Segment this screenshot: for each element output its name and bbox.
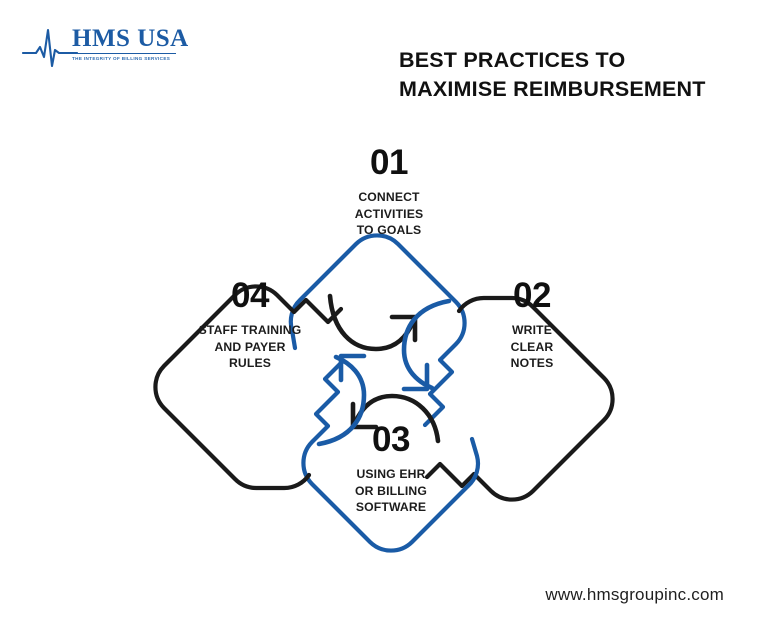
page-title-line-1: BEST PRACTICES TO [399, 46, 706, 74]
arrow-top-left-to-top [330, 296, 415, 349]
cycle-diagram-graphic [0, 96, 768, 596]
website-url[interactable]: www.hmsgroupinc.com [545, 585, 724, 605]
arrow-top-right-to-right [404, 301, 449, 389]
brand-tagline: THE INTEGRITY OF BILLING SERVICES [72, 56, 184, 61]
brand-logo-text: HMS USA THE INTEGRITY OF BILLING SERVICE… [72, 26, 184, 61]
brand-logo: HMS USA THE INTEGRITY OF BILLING SERVICE… [22, 22, 182, 78]
page-title: BEST PRACTICES TO MAXIMISE REIMBURSEMENT [399, 46, 706, 103]
node-03-shape[interactable] [303, 361, 478, 551]
page-header: HMS USA THE INTEGRITY OF BILLING SERVICE… [0, 0, 768, 110]
heartbeat-wave-icon [22, 26, 78, 70]
brand-divider [72, 53, 176, 54]
brand-name: HMS USA [72, 26, 184, 52]
node-04-shape[interactable] [155, 286, 341, 488]
node-02-shape[interactable] [427, 298, 613, 500]
cycle-diagram: 01 CONNECT ACTIVITIES TO GOALS 02 WRITE … [0, 96, 768, 596]
